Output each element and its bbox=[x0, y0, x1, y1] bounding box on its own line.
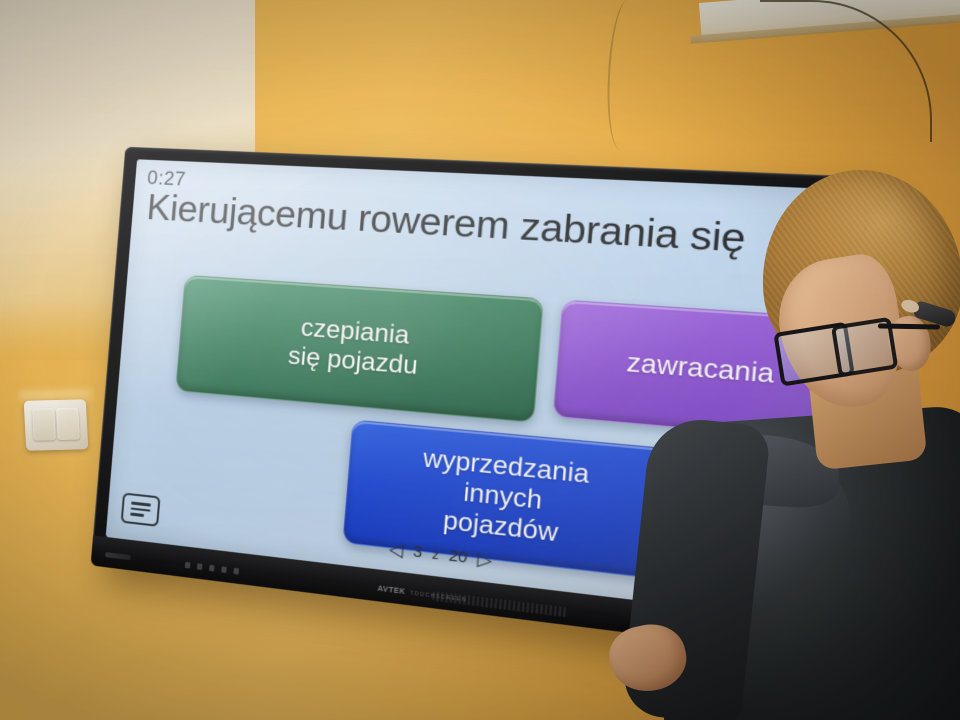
scene-vignette bbox=[0, 0, 960, 720]
photo-scene: 0:27 ✓ 0 Kierującemu rowerem zabrania si… bbox=[0, 0, 960, 720]
